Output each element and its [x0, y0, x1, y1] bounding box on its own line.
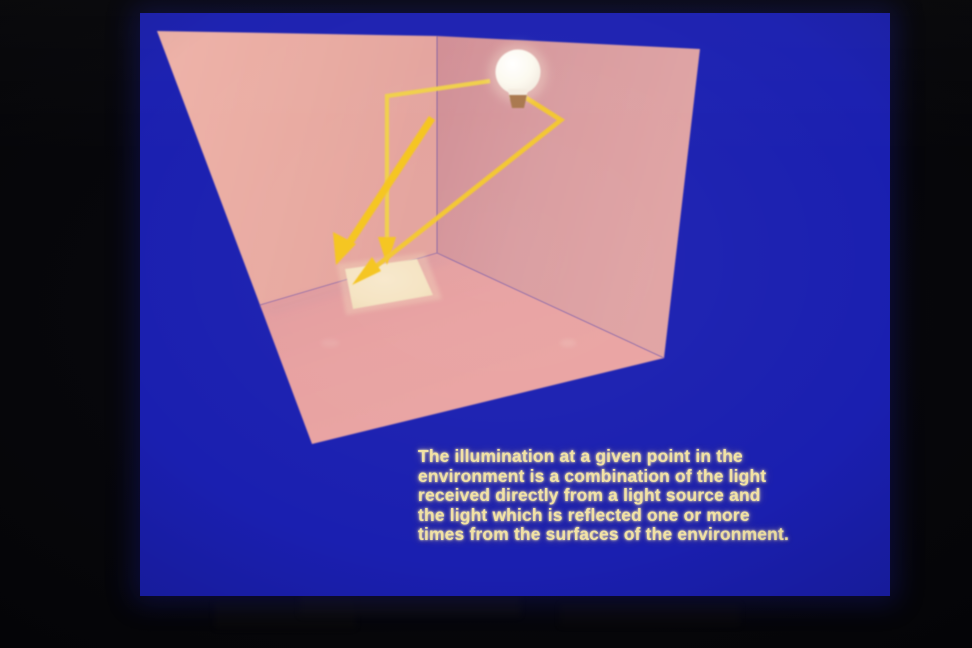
slide-caption-text: The illumination at a given point in the…: [418, 447, 878, 545]
bulb-glass: [496, 50, 541, 95]
dark-foreground-shape-3: [560, 604, 740, 626]
screenshot-frame: The illumination at a given point in the…: [0, 0, 972, 648]
bulb-base: [509, 95, 527, 108]
dark-foreground-shape-2: [300, 596, 520, 616]
floor-speckle-1: [321, 339, 339, 347]
projected-slide: The illumination at a given point in the…: [140, 13, 890, 596]
floor-speckle-2: [560, 339, 576, 347]
